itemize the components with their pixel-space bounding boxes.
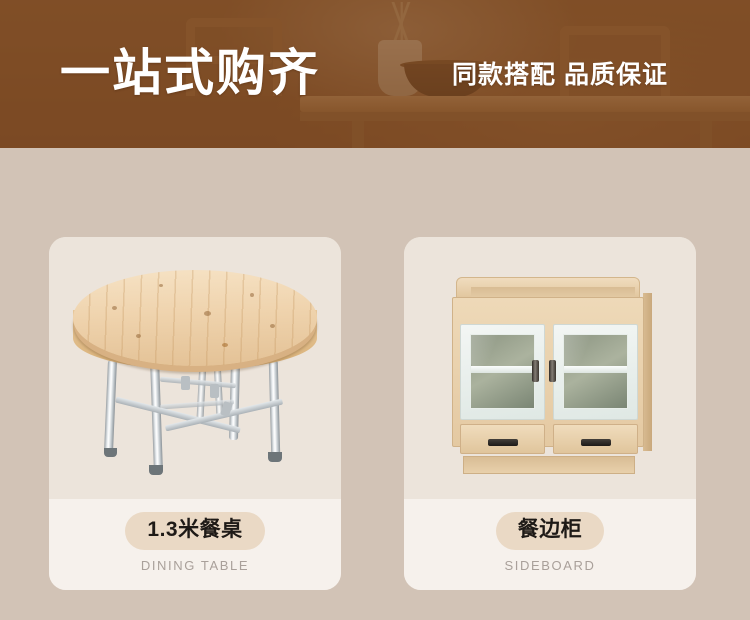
- sideboard-illustration: [452, 277, 648, 459]
- door-handle-right: [549, 360, 556, 382]
- cabinet-body: [452, 297, 644, 447]
- wood-knot: [112, 306, 117, 310]
- banner-subtitle: 同款搭配 品质保证: [452, 63, 668, 88]
- door-glass-right: [563, 334, 628, 409]
- table-leg-4: [269, 360, 281, 456]
- cabinet-plinth: [463, 456, 635, 474]
- banner-title: 一站式购齐: [60, 48, 320, 98]
- product-card-dining-table[interactable]: 1.3米餐桌 DINING TABLE: [49, 237, 341, 590]
- product-card-sideboard[interactable]: 餐边柜 SIDEBOARD: [404, 237, 696, 590]
- product-name-badge-dining-table: 1.3米餐桌: [125, 512, 264, 550]
- banner-table-edge: [300, 112, 750, 121]
- wood-knot: [270, 324, 275, 328]
- cabinet-top-shelf: [456, 277, 640, 298]
- wood-knot: [136, 334, 141, 338]
- door-handle-left: [532, 360, 539, 382]
- banner-table-leg-left: [352, 121, 364, 148]
- product-name-badge-sideboard: 餐边柜: [496, 512, 605, 550]
- table-foot-2: [149, 465, 163, 475]
- product-name-en-sideboard: SIDEBOARD: [505, 558, 596, 573]
- cabinet-glass-door-right[interactable]: [553, 324, 638, 420]
- wood-knot: [159, 284, 163, 287]
- table-leg-1: [104, 360, 117, 452]
- glass-reflection: [470, 334, 508, 369]
- product-image-sideboard: [404, 237, 696, 499]
- glass-reflection: [563, 334, 601, 369]
- dining-table-illustration: [64, 262, 326, 474]
- cabinet-drawer-left[interactable]: [460, 424, 545, 454]
- cabinet-shelf-right: [564, 366, 627, 373]
- product-caption-dining-table: 1.3米餐桌 DINING TABLE: [49, 499, 341, 590]
- product-card-grid: 1.3米餐桌 DINING TABLE: [0, 148, 750, 620]
- wood-knot: [204, 311, 211, 316]
- table-foot-4: [268, 452, 282, 462]
- table-hinge-2: [210, 384, 219, 398]
- promo-page: 一站式购齐 同款搭配 品质保证: [0, 0, 750, 620]
- product-image-dining-table: [49, 237, 341, 499]
- wood-knot: [250, 293, 254, 297]
- cabinet-drawer-right[interactable]: [553, 424, 638, 454]
- cabinet-side-panel: [643, 293, 652, 451]
- banner-table-top: [300, 96, 750, 112]
- banner-dried-stems: [374, 2, 430, 46]
- drawer-pull-right: [581, 439, 611, 446]
- table-foot-1: [104, 448, 117, 457]
- wood-knot: [222, 343, 228, 347]
- product-caption-sideboard: 餐边柜 SIDEBOARD: [404, 499, 696, 590]
- cabinet-shelf-left: [471, 366, 534, 373]
- product-name-en-dining-table: DINING TABLE: [141, 558, 249, 573]
- drawer-pull-left: [488, 439, 518, 446]
- door-glass-left: [470, 334, 535, 409]
- table-hinge-1: [181, 376, 190, 390]
- promo-banner: 一站式购齐 同款搭配 品质保证: [0, 0, 750, 148]
- banner-table-leg-right: [700, 121, 712, 148]
- table-top-surface: [73, 270, 317, 366]
- banner-vase: [378, 40, 422, 96]
